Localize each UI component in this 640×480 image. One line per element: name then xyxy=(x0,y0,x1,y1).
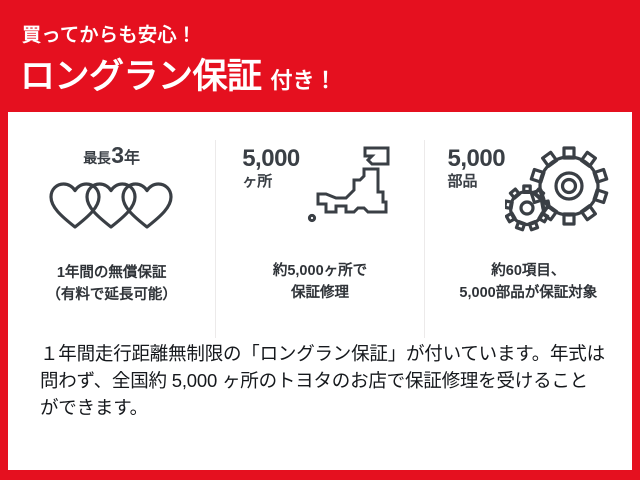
feature-columns: 最長 3 年 1年間の無償保証 （有料で延長可能） xyxy=(8,140,632,338)
feature-column-covered-parts: 5,000 部品 xyxy=(424,140,632,338)
feature-headline-unit: 部品 xyxy=(448,174,506,190)
warranty-poster: 買ってからも安心！ ロングラン保証 付き！ 最長 3 年 xyxy=(0,0,640,480)
gears-icon xyxy=(505,142,609,238)
japan-map-icon xyxy=(302,142,398,238)
feature-headline: 最長 3 年 xyxy=(83,144,140,167)
feature-caption-line2: 5,000部品が保証対象 xyxy=(459,282,597,304)
feature-headline-number: 5,000 xyxy=(242,146,300,171)
content-card: 最長 3 年 1年間の無償保証 （有料で延長可能） xyxy=(8,112,632,470)
header-kicker: 買ってからも安心！ xyxy=(22,26,197,45)
feature-headline-number: 3 xyxy=(111,144,124,167)
body-description: １年間走行距離無制限の「ロングラン保証」が付いています。年式は問わず、全国約 5… xyxy=(40,340,606,421)
feature-column-warranty-years: 最長 3 年 1年間の無償保証 （有料で延長可能） xyxy=(8,140,215,338)
feature-headline-number: 5,000 xyxy=(448,146,506,171)
feature-caption-line2: 保証修理 xyxy=(273,282,367,304)
feature-column-service-locations: 5,000 ヶ所 約5 xyxy=(215,140,423,338)
feature-headline-prefix: 最長 xyxy=(83,151,110,165)
body-description-text: １年間走行距離無制限の「ロングラン保証」が付いています。年式は問わず、全国約 5… xyxy=(40,340,606,421)
feature-headline: 5,000 部品 xyxy=(448,146,506,190)
feature-caption: 1年間の無償保証 （有料で延長可能） xyxy=(46,262,177,307)
feature-caption-line1: 約60項目、 xyxy=(459,260,597,282)
feature-icon-area: 5,000 部品 xyxy=(425,140,632,254)
feature-caption-line2: （有料で延長可能） xyxy=(46,284,177,306)
header-title-suffix: 付き！ xyxy=(271,70,337,92)
feature-headline-unit: 年 xyxy=(124,151,140,167)
poster-header: 買ってからも安心！ ロングラン保証 付き！ xyxy=(0,0,640,112)
feature-icon-area: 最長 3 年 xyxy=(8,140,215,256)
feature-headline: 5,000 ヶ所 xyxy=(242,146,300,190)
feature-headline-unit: ヶ所 xyxy=(242,174,300,190)
feature-caption: 約60項目、 5,000部品が保証対象 xyxy=(459,260,597,305)
feature-caption-line1: 約5,000ヶ所で xyxy=(273,260,367,282)
header-title-main: ロングラン保証 xyxy=(20,59,262,94)
header-title: ロングラン保証 付き！ xyxy=(20,59,337,94)
feature-caption-line1: 1年間の無償保証 xyxy=(46,262,177,284)
feature-caption: 約5,000ヶ所で 保証修理 xyxy=(273,260,367,305)
three-hearts-icon xyxy=(47,175,177,233)
feature-icon-area: 5,000 ヶ所 xyxy=(216,140,423,254)
